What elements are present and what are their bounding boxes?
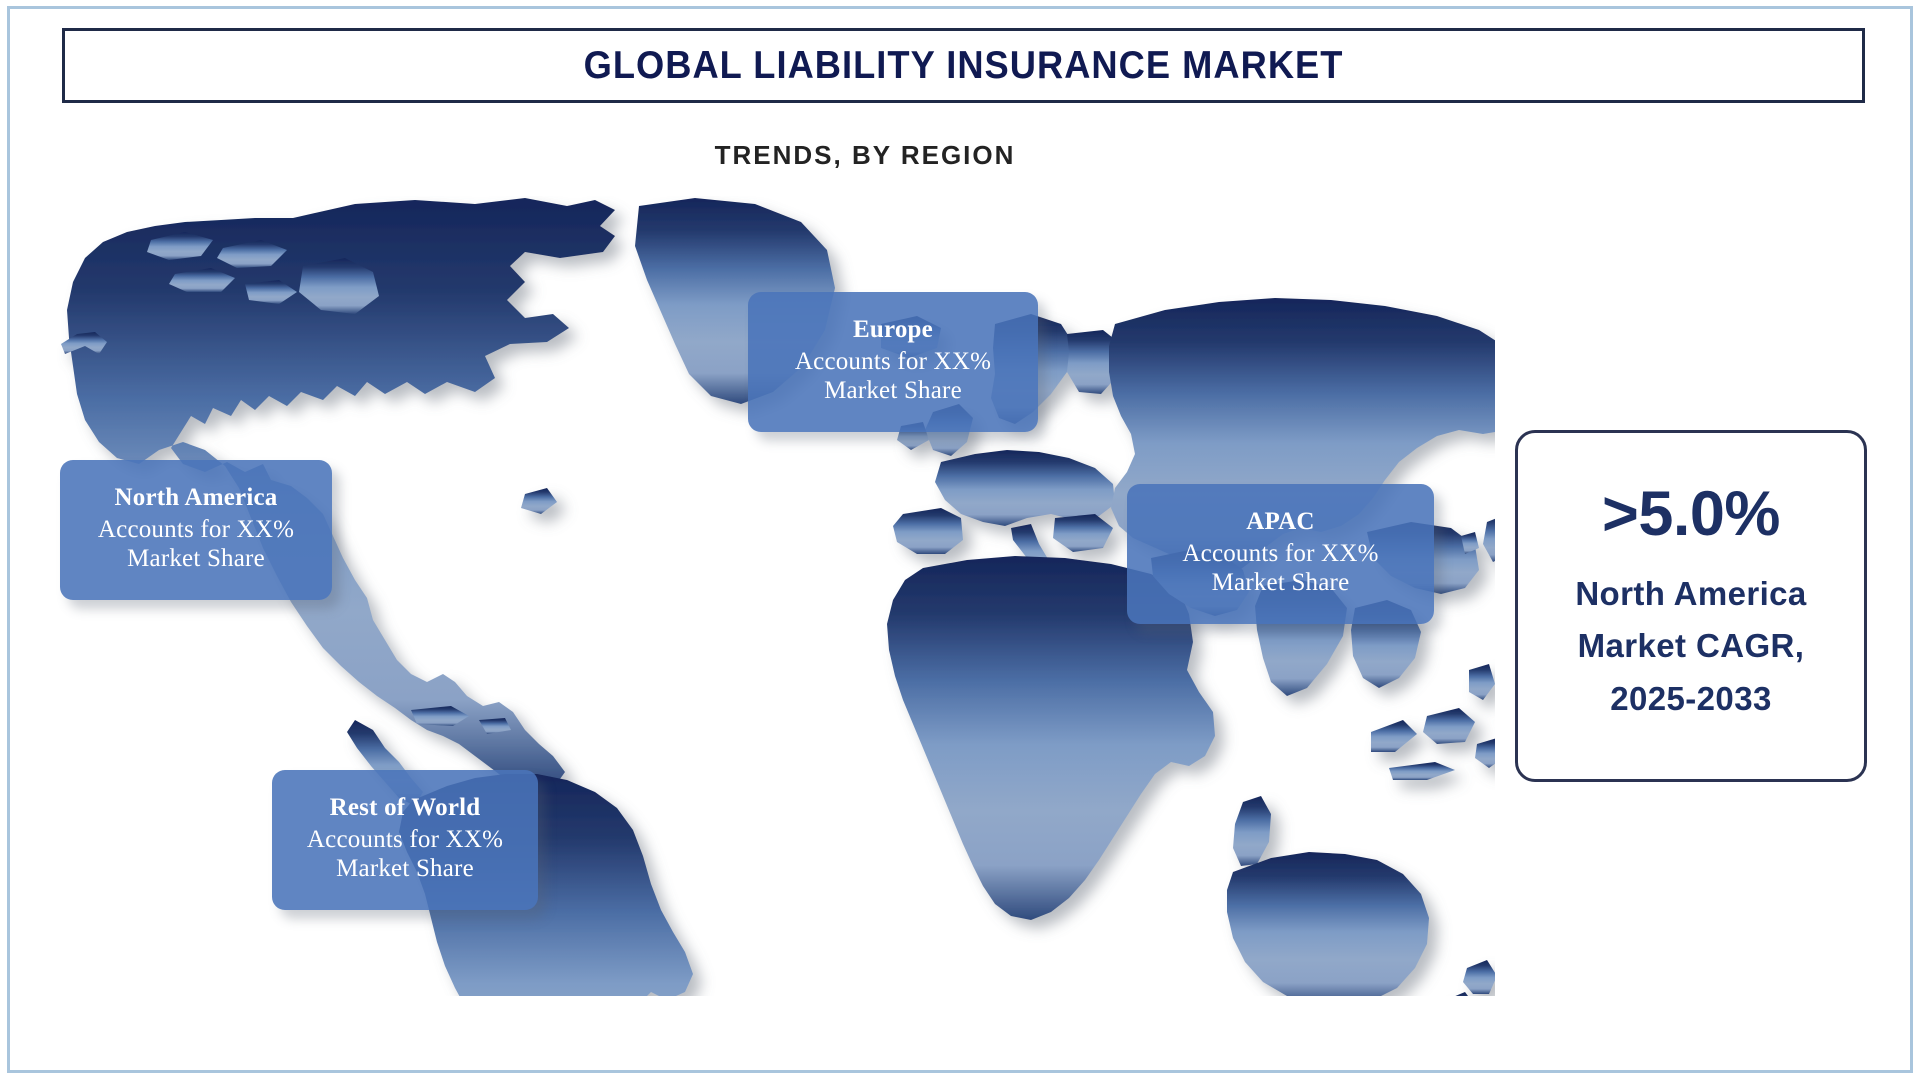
infographic-page: GLOBAL LIABILITY INSURANCE MARKET TRENDS… [0, 0, 1920, 1080]
landmass-japan [1483, 514, 1495, 562]
callout-region-title: Europe [762, 315, 1024, 345]
cagr-region-label: North America [1575, 568, 1806, 620]
callout-line-2: Market Share [286, 854, 524, 884]
callout-line-2: Market Share [74, 544, 318, 574]
landmass-new-zealand-north [1463, 960, 1495, 994]
landmass-philippines [1469, 664, 1495, 700]
landmass-java [1389, 762, 1455, 780]
cagr-highlight-card: >5.0% North America Market CAGR, 2025-20… [1515, 430, 1867, 782]
callout-line-1: Accounts for XX% [1141, 539, 1420, 569]
landmass-western-europe [935, 450, 1115, 526]
landmass-balkans [1053, 514, 1113, 552]
callout-apac[interactable]: APAC Accounts for XX% Market Share [1127, 484, 1434, 624]
landmass-madagascar [1233, 796, 1271, 866]
page-title: GLOBAL LIABILITY INSURANCE MARKET [584, 44, 1344, 88]
landmass-newfoundland [521, 488, 557, 514]
callout-europe[interactable]: Europe Accounts for XX% Market Share [748, 292, 1038, 432]
landmass-borneo [1423, 708, 1475, 744]
callout-line-1: Accounts for XX% [74, 515, 318, 545]
callout-region-title: Rest of World [286, 793, 524, 823]
callout-region-title: APAC [1141, 507, 1420, 537]
page-subtitle: TRENDS, BY REGION [0, 140, 1730, 171]
callout-rest-of-world[interactable]: Rest of World Accounts for XX% Market Sh… [272, 770, 538, 910]
callout-line-2: Market Share [762, 376, 1024, 406]
title-box: GLOBAL LIABILITY INSURANCE MARKET [62, 28, 1865, 103]
callout-line-2: Market Share [1141, 568, 1420, 598]
landmass-sulawesi [1475, 738, 1495, 768]
callout-north-america[interactable]: North America Accounts for XX% Market Sh… [60, 460, 332, 600]
callout-line-1: Accounts for XX% [762, 347, 1024, 377]
cagr-metric-label: Market CAGR, [1578, 620, 1805, 672]
callout-region-title: North America [74, 483, 318, 513]
landmass-iberia [893, 508, 963, 554]
cagr-value: >5.0% [1602, 483, 1780, 546]
callout-line-1: Accounts for XX% [286, 825, 524, 855]
landmass-new-zealand-south [1433, 992, 1477, 996]
cagr-period-label: 2025-2033 [1610, 673, 1771, 725]
landmass-sumatra [1371, 720, 1417, 752]
landmass-australia [1227, 852, 1429, 996]
